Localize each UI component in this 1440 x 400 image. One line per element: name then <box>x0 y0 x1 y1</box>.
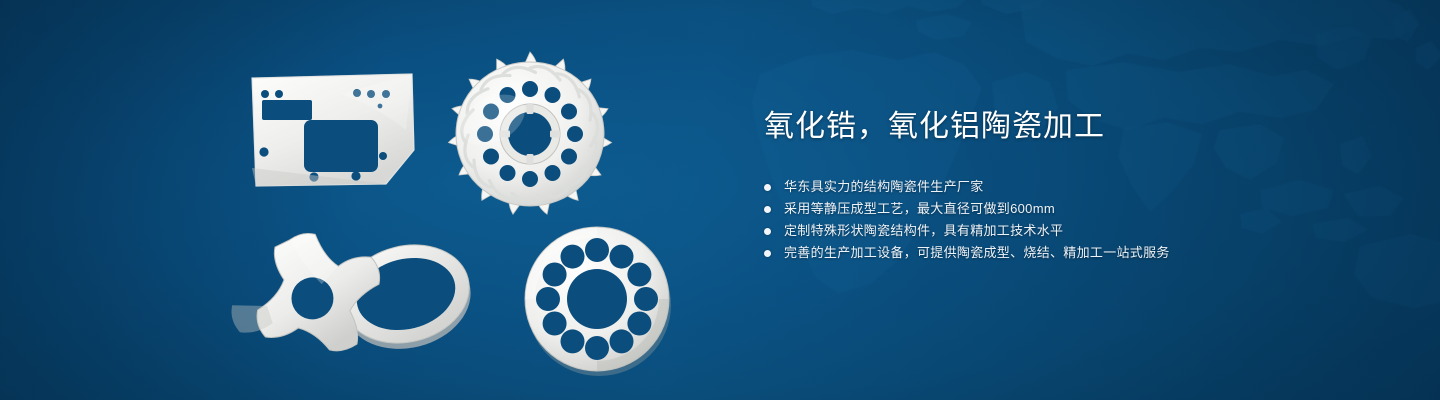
ceramic-cross-part <box>238 220 488 370</box>
bullet-dot-icon <box>764 184 771 191</box>
feature-text: 完善的生产加工设备，可提供陶瓷成型、烧结、精加工一站式服务 <box>784 242 1170 264</box>
feature-text: 华东具实力的结构陶瓷件生产厂家 <box>784 176 984 198</box>
bullet-dot-icon <box>764 206 771 213</box>
feature-text: 采用等静压成型工艺，最大直径可做到600mm <box>784 198 1055 220</box>
ceramic-plate-part <box>246 72 418 188</box>
product-collage <box>228 38 708 378</box>
feature-list: 华东具实力的结构陶瓷件生产厂家 采用等静压成型工艺，最大直径可做到600mm 定… <box>764 176 1384 264</box>
list-item: 定制特殊形状陶瓷结构件，具有精加工技术水平 <box>764 220 1384 242</box>
page-title: 氧化锆，氧化铝陶瓷加工 <box>764 108 1384 146</box>
bullet-dot-icon <box>764 250 771 257</box>
list-item: 完善的生产加工设备，可提供陶瓷成型、烧结、精加工一站式服务 <box>764 242 1384 264</box>
promo-banner: 氧化锆，氧化铝陶瓷加工 华东具实力的结构陶瓷件生产厂家 采用等静压成型工艺，最大… <box>0 0 1440 400</box>
feature-text: 定制特殊形状陶瓷结构件，具有精加工技术水平 <box>784 220 1063 242</box>
ceramic-impeller-part <box>442 46 618 222</box>
bullet-dot-icon <box>764 228 771 235</box>
list-item: 华东具实力的结构陶瓷件生产厂家 <box>764 176 1384 198</box>
banner-copy: 氧化锆，氧化铝陶瓷加工 华东具实力的结构陶瓷件生产厂家 采用等静压成型工艺，最大… <box>764 108 1384 264</box>
list-item: 采用等静压成型工艺，最大直径可做到600mm <box>764 198 1384 220</box>
ceramic-disc-part <box>516 218 678 380</box>
